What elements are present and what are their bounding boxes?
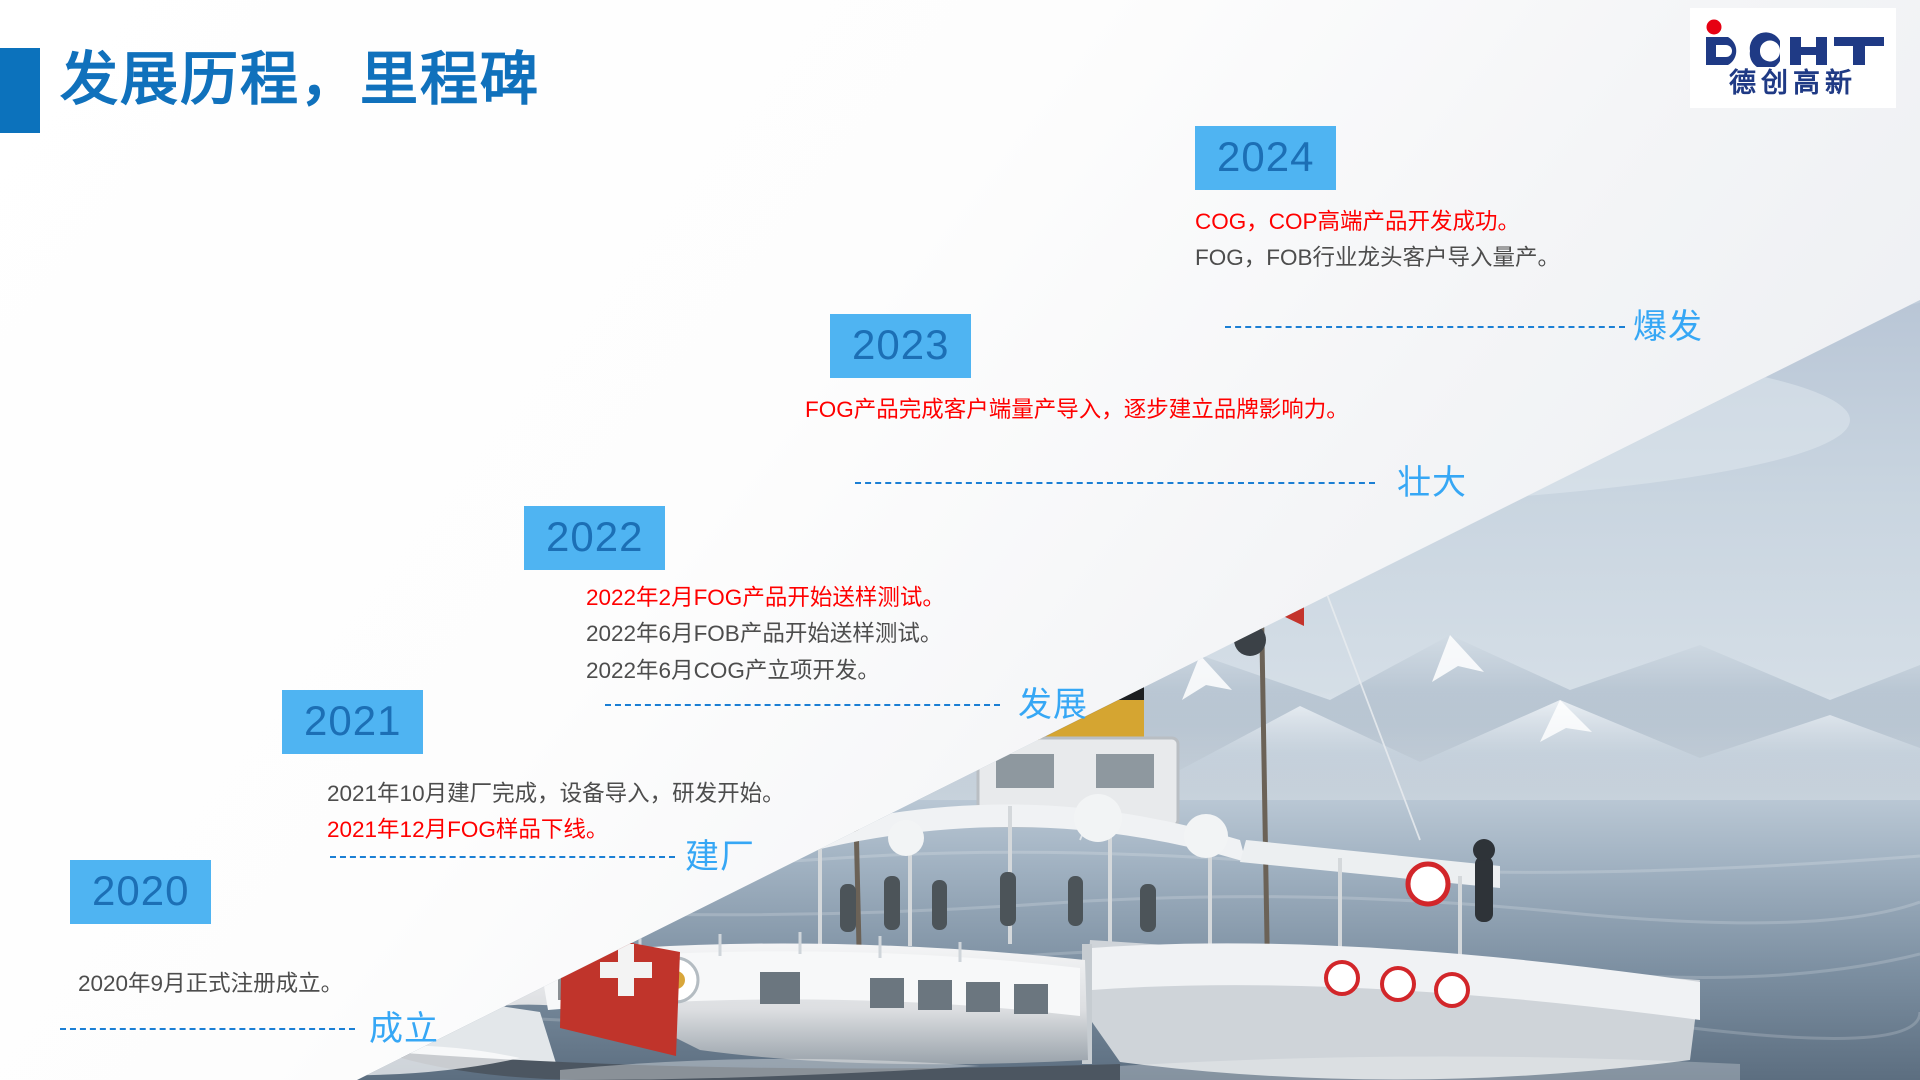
slide-canvas: 发展历程，里程碑 德创高新 2024 COG，COP高端产品开发成功。 FOG，… (0, 0, 1920, 1080)
dashed-line (855, 482, 1375, 484)
stage-label-2022: 发展 (1018, 688, 1088, 722)
dcht-wordmark-icon (1698, 19, 1888, 67)
stage-label-2021: 建厂 (685, 840, 755, 874)
company-logo: 德创高新 (1690, 8, 1896, 108)
milestone-2020: 2020 2020年9月正式注册成立。 (70, 860, 343, 1002)
milestone-line: 2022年6月COG产立项开发。 (586, 653, 945, 689)
milestone-lines-2024: COG，COP高端产品开发成功。 FOG，FOB行业龙头客户导入量产。 (1195, 204, 1560, 277)
logo-chinese-name: 德创高新 (1729, 70, 1857, 97)
milestone-line: 2020年9月正式注册成立。 (78, 966, 343, 1002)
dcht-logo-icon (1698, 19, 1888, 67)
connector-2020: 成立 (60, 1012, 439, 1046)
connector-2023: 壮大 (855, 466, 1467, 500)
connector-2021: 建厂 (330, 840, 755, 874)
stage-label-2020: 成立 (369, 1012, 439, 1046)
stage-label-2024: 爆发 (1633, 310, 1703, 344)
milestone-2022: 2022 2022年2月FOG产品开始送样测试。 2022年6月FOB产品开始送… (524, 506, 945, 689)
milestone-line: FOG，FOB行业龙头客户导入量产。 (1195, 240, 1560, 276)
milestone-lines-2020: 2020年9月正式注册成立。 (78, 966, 343, 1002)
year-badge-2022[interactable]: 2022 (524, 506, 665, 570)
milestone-line: 2022年6月FOB产品开始送样测试。 (586, 616, 945, 652)
milestone-lines-2022: 2022年2月FOG产品开始送样测试。 2022年6月FOB产品开始送样测试。 … (586, 580, 945, 689)
page-title: 发展历程，里程碑 (60, 38, 540, 122)
milestone-line: 2022年2月FOG产品开始送样测试。 (586, 580, 945, 616)
title-accent-bar (0, 48, 40, 133)
dashed-line (60, 1028, 355, 1030)
year-badge-2020[interactable]: 2020 (70, 860, 211, 924)
stage-label-2023: 壮大 (1397, 466, 1467, 500)
dashed-line (330, 856, 675, 858)
milestone-line: 2021年10月建厂完成，设备导入，研发开始。 (327, 776, 785, 812)
milestone-line: FOG产品完成客户端量产导入，逐步建立品牌影响力。 (805, 392, 1349, 428)
year-badge-2021[interactable]: 2021 (282, 690, 423, 754)
milestone-lines-2023: FOG产品完成客户端量产导入，逐步建立品牌影响力。 (830, 392, 1349, 428)
milestone-2021: 2021 2021年10月建厂完成，设备导入，研发开始。 2021年12月FOG… (282, 690, 785, 849)
milestone-line: COG，COP高端产品开发成功。 (1195, 204, 1560, 240)
year-badge-2024[interactable]: 2024 (1195, 126, 1336, 190)
milestone-2024: 2024 COG，COP高端产品开发成功。 FOG，FOB行业龙头客户导入量产。 (1195, 126, 1560, 277)
milestone-2023: 2023 FOG产品完成客户端量产导入，逐步建立品牌影响力。 (830, 314, 1349, 428)
year-badge-2023[interactable]: 2023 (830, 314, 971, 378)
